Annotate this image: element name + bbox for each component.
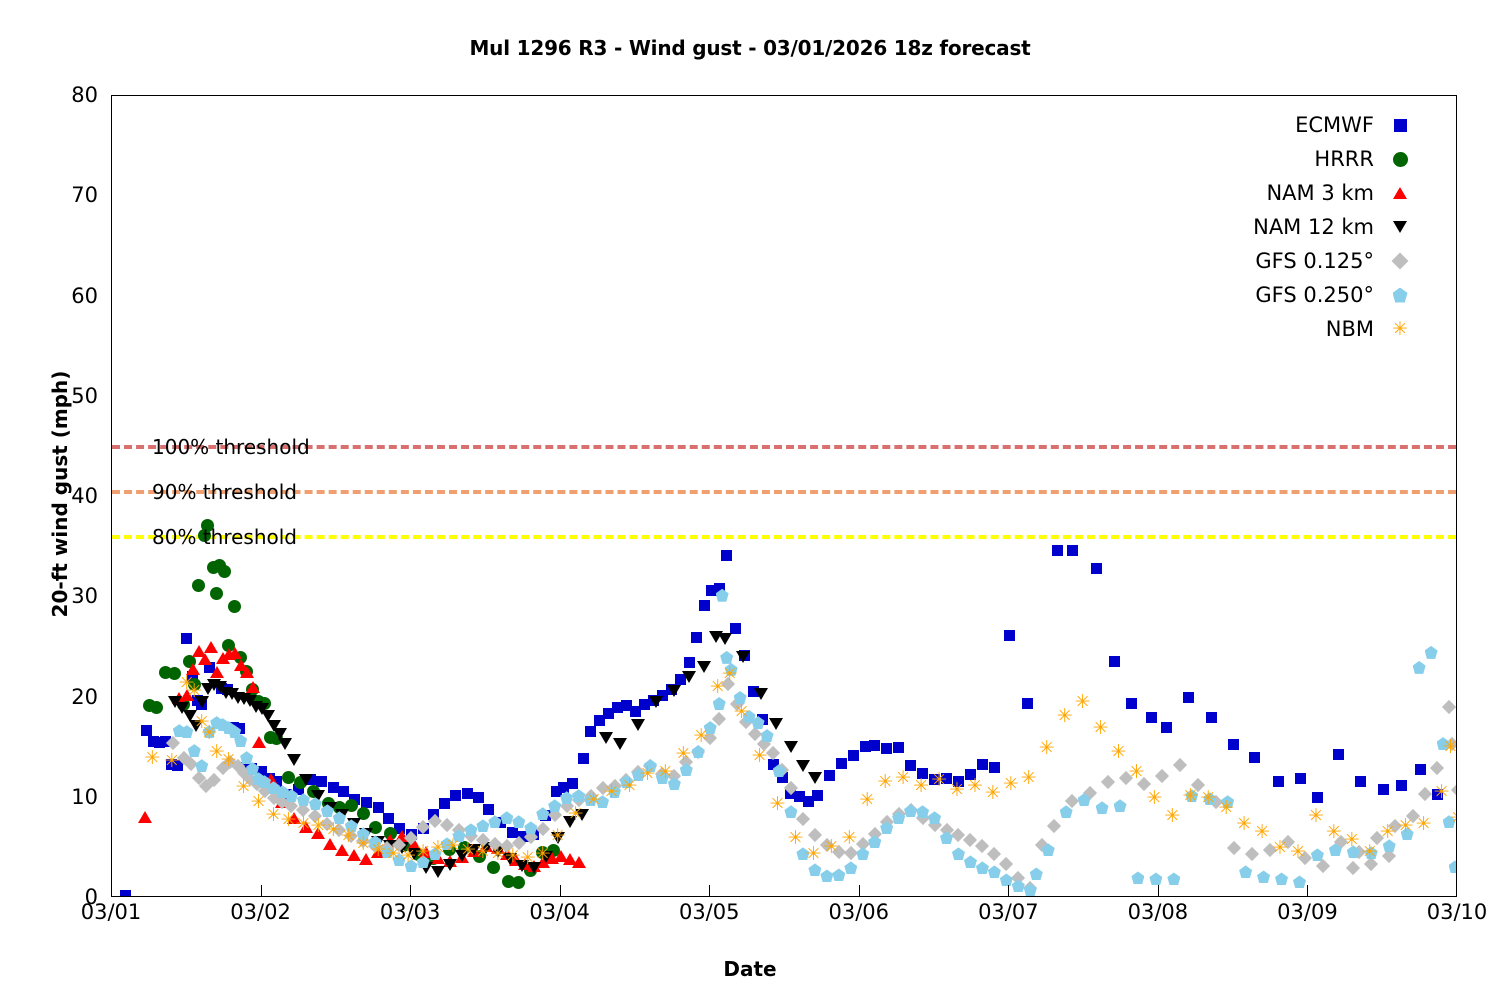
data-point [859,792,875,808]
data-point [1272,840,1288,856]
threshold-label: 90% threshold [152,480,297,504]
pentagon-marker-icon [1390,285,1410,305]
x-axis-tick-label: 03/07 [978,900,1039,924]
data-point [1003,776,1019,792]
data-point [194,714,210,730]
x-axis-tick-mark [709,885,710,897]
data-point [475,844,491,860]
data-point [460,842,476,858]
triangle-up-marker-icon [1390,183,1410,203]
data-point [657,764,673,780]
triangle-down-marker-icon-glyph [1393,221,1407,233]
data-point [179,675,195,691]
triangle-up-marker-icon-glyph [1393,187,1407,199]
legend-item-nam-3-km[interactable]: NAM 3 km [1150,176,1410,210]
data-point [823,839,839,855]
x-axis-tick-mark [560,885,561,897]
data-point [1057,708,1073,724]
data-point [1443,739,1456,755]
threshold-label: 100% threshold [152,435,310,459]
data-point [1021,770,1037,786]
data-point [221,752,237,768]
x-axis-tick-label: 03/10 [1427,900,1488,924]
data-point [1093,720,1109,736]
data-point [1164,808,1180,824]
data-point [787,830,803,846]
data-point [505,848,521,864]
square-marker-icon-glyph [1394,119,1407,132]
data-point [201,725,217,741]
data-point [445,838,461,854]
x-axis-tick-mark [410,885,411,897]
data-point [967,778,983,794]
data-point [675,746,691,762]
data-point [1380,824,1396,840]
data-point [1128,764,1144,780]
data-point [325,822,341,838]
data-point [236,779,252,795]
data-point [568,806,584,822]
data-point [949,782,965,798]
data-point [877,774,893,790]
data-point [295,816,311,832]
legend-item-label: GFS 0.250° [1255,283,1374,307]
data-point [841,830,857,846]
data-point [209,744,225,760]
data-point [1416,816,1432,832]
data-point [734,704,750,720]
data-point [1111,744,1127,760]
data-point [604,784,620,800]
data-point [430,840,446,856]
data-point [1344,832,1360,848]
data-point [752,748,768,764]
data-point [1326,824,1342,840]
circle-marker-icon-glyph [1393,152,1408,167]
x-axis-tick-mark [1307,885,1308,897]
triangle-down-marker-icon [1390,217,1410,237]
x-axis-tick-marks [0,885,1500,899]
legend-item-nbm[interactable]: NBM [1150,312,1410,346]
legend-item-label: ECMWF [1295,113,1374,137]
diamond-marker-icon [1390,251,1410,271]
data-point [144,750,160,766]
data-point [1218,800,1234,816]
data-point [266,807,282,823]
data-point [1236,816,1252,832]
x-axis-tick-label: 03/09 [1277,900,1338,924]
data-point [1434,784,1450,800]
data-point [931,772,947,788]
data-point [639,766,655,782]
data-point [340,828,356,844]
legend-item-label: NBM [1326,317,1374,341]
asterisk-marker-icon [1390,319,1410,339]
x-axis-tick-mark [1158,885,1159,897]
legend-item-label: NAM 3 km [1266,181,1374,205]
legend-item-ecmwf[interactable]: ECMWF [1150,108,1410,142]
x-axis-tick-mark [859,885,860,897]
data-point [1254,824,1270,840]
data-point [251,794,267,810]
data-point [535,846,551,862]
page-title: Mul 1296 R3 - Wind gust - 03/01/2026 18z… [0,36,1500,60]
legend-item-gfs-0-125[interactable]: GFS 0.125° [1150,244,1410,278]
data-point [621,778,637,794]
legend-item-label: HRRR [1314,147,1374,171]
data-point [913,778,929,794]
data-point [415,844,431,860]
data-point [722,666,738,682]
data-point [550,828,566,844]
square-marker-icon [1390,115,1410,135]
data-point [490,846,506,862]
legend-item-label: NAM 12 km [1253,215,1374,239]
x-axis-title: Date [0,957,1500,981]
legend-item-nam-12-km[interactable]: NAM 12 km [1150,210,1410,244]
x-axis-tick-labels: 03/0103/0203/0303/0403/0503/0603/0703/08… [0,900,1500,944]
data-point [1146,790,1162,806]
data-point [1362,844,1378,860]
legend-item-gfs-0-250[interactable]: GFS 0.250° [1150,278,1410,312]
data-point [1450,810,1456,826]
data-point [400,848,416,864]
legend-item-label: GFS 0.125° [1255,249,1374,273]
x-axis-tick-label: 03/08 [1128,900,1189,924]
data-point [164,753,180,769]
data-point [985,785,1001,801]
data-point [280,812,296,828]
data-point [355,836,371,852]
data-point [805,846,821,862]
data-point [520,850,536,866]
data-point [1290,844,1306,860]
x-axis-tick-label: 03/06 [829,900,890,924]
circle-marker-icon [1390,149,1410,169]
x-axis-tick-label: 03/05 [679,900,740,924]
legend: ECMWFHRRRNAM 3 kmNAM 12 kmGFS 0.125°GFS … [1150,108,1410,346]
data-point [1075,694,1091,710]
data-point [770,796,786,812]
x-axis-tick-label: 03/01 [81,900,142,924]
data-point [370,842,386,858]
data-point [586,792,602,808]
x-axis-tick-mark [1008,885,1009,897]
data-point [1200,790,1216,806]
x-axis-tick-label: 03/03 [380,900,441,924]
data-point [895,770,911,786]
diamond-marker-icon-glyph [1392,253,1409,270]
data-point [1398,818,1414,834]
data-point [310,818,326,834]
data-point [1308,808,1324,824]
pentagon-marker-icon-glyph [1393,288,1408,303]
data-point [693,728,709,744]
data-point [186,683,202,699]
asterisk-marker-icon-glyph [1392,321,1408,337]
x-axis-tick-label: 03/04 [529,900,590,924]
legend-item-hrrr[interactable]: HRRR [1150,142,1410,176]
threshold-label: 80% threshold [152,525,297,549]
data-point [710,679,726,695]
data-point [1182,788,1198,804]
x-axis-tick-mark [261,885,262,897]
data-point [385,846,401,862]
x-axis-tick-label: 03/02 [230,900,291,924]
data-point [1039,740,1055,756]
